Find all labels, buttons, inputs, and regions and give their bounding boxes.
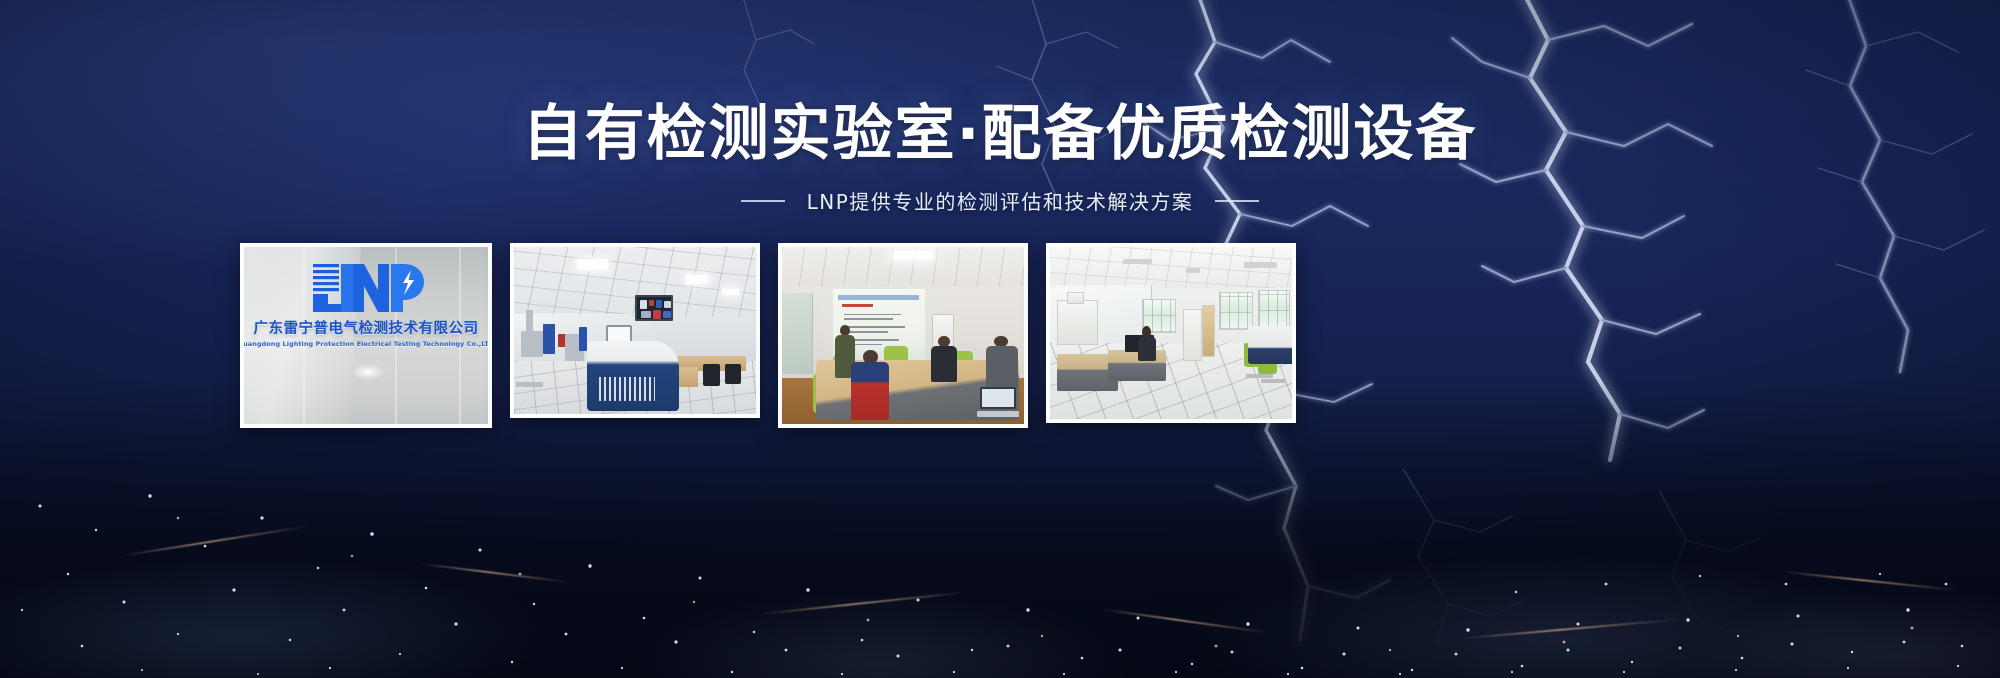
reception-counter [1248, 326, 1292, 364]
testing-laboratory-photo [514, 247, 756, 414]
gallery-item-office-area[interactable] [1046, 243, 1296, 423]
page-title: 自有检测实验室·配备优质检测设备 [0, 104, 2000, 164]
right-dash-decoration [1215, 200, 1259, 202]
meeting-room-photo [782, 247, 1024, 424]
page-subtitle: LNP提供专业的检测评估和技术解决方案 [807, 186, 1194, 215]
office-staff [1137, 326, 1156, 360]
window-mid [1219, 292, 1253, 330]
signage-content: 广东雷宁普电气检测技术有限公司 Guangdong Lighting Prote… [244, 261, 488, 348]
lnp-logo-icon [307, 261, 425, 313]
gallery-item-testing-laboratory[interactable] [510, 243, 760, 418]
gallery-item-company-signage[interactable]: 广东雷宁普电气检测技术有限公司 Guangdong Lighting Prote… [240, 243, 492, 428]
subtitle-row: LNP提供专业的检测评估和技术解决方案 [0, 186, 2000, 215]
gallery-item-meeting-room[interactable] [778, 243, 1028, 428]
hero-banner: 自有检测实验室·配备优质检测设备 LNP提供专业的检测评估和技术解决方案 [0, 0, 2000, 678]
company-name-cn: 广东雷宁普电气检测技术有限公司 [254, 317, 479, 338]
light-spot [351, 364, 385, 380]
laptop [977, 387, 1019, 417]
company-name-en: Guangdong Lighting Protection Electrical… [244, 340, 488, 348]
hero-text-block: 自有检测实验室·配备优质检测设备 LNP提供专业的检测评估和技术解决方案 [0, 0, 2000, 215]
attendee-middle [930, 336, 959, 382]
window-right [1258, 290, 1289, 328]
facility-photo-gallery: 广东雷宁普电气检测技术有限公司 Guangdong Lighting Prote… [240, 243, 1760, 436]
company-signage-photo: 广东雷宁普电气检测技术有限公司 Guangdong Lighting Prote… [244, 247, 488, 424]
attendee-right [985, 336, 1019, 389]
attendee-front [850, 350, 891, 421]
wall-monitor [635, 295, 673, 321]
control-console [587, 341, 679, 411]
office-area-photo [1050, 247, 1292, 419]
left-dash-decoration [741, 200, 785, 202]
